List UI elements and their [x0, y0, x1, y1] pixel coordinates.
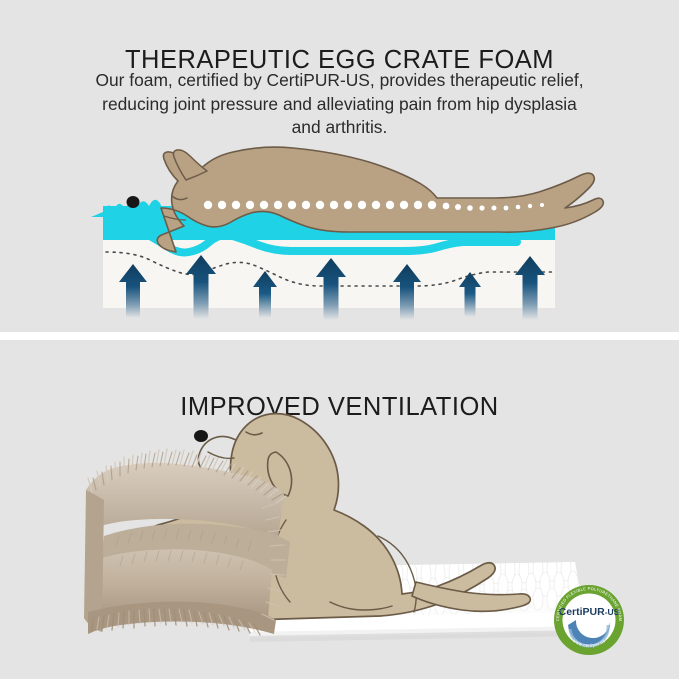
- panel-therapeutic-foam: THERAPEUTIC EGG CRATE FOAM Our foam, cer…: [0, 0, 679, 332]
- panel-divider: [0, 332, 679, 340]
- badge-brand-text: CertiPUR-US: [559, 606, 620, 618]
- bolster-bed-ventilation-illustration: CertiPUR-US CERTIFIED FLEXIBLE POLYURETH…: [0, 340, 679, 679]
- panel-improved-ventilation: IMPROVED VENTILATION: [0, 340, 679, 679]
- certipur-us-seal: CertiPUR-US CERTIFIED FLEXIBLE POLYURETH…: [554, 585, 624, 655]
- foam-cross-section-illustration: [0, 0, 679, 332]
- infographic-page: THERAPEUTIC EGG CRATE FOAM Our foam, cer…: [0, 0, 679, 679]
- dog-nose: [194, 430, 208, 442]
- dog-nose: [127, 196, 140, 208]
